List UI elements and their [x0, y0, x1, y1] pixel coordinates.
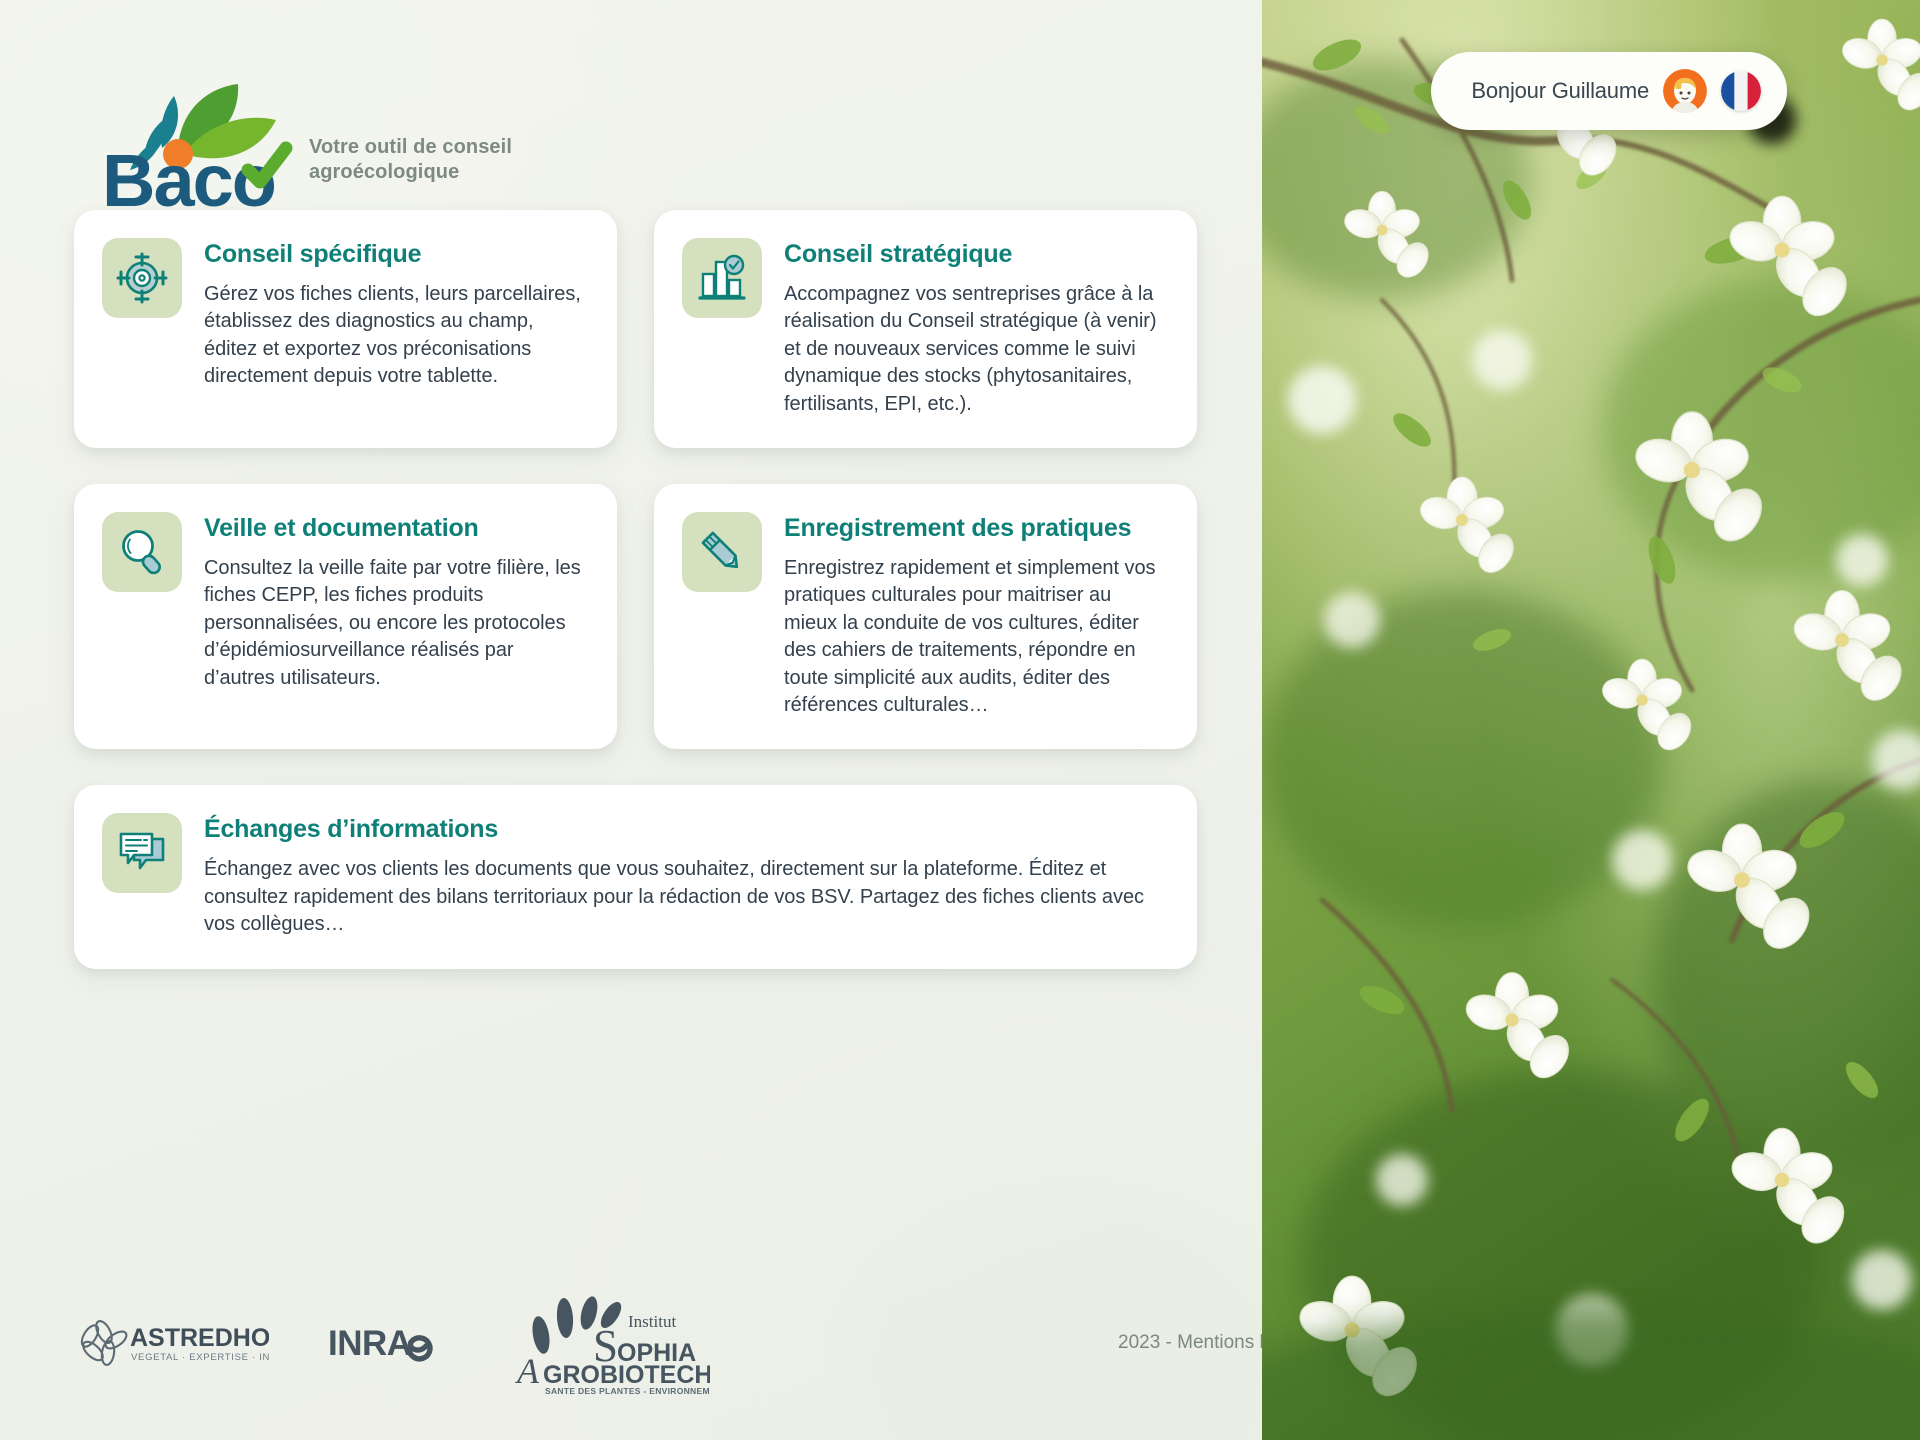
card-body: Veille et documentation Consultez la vei… — [204, 512, 587, 692]
astredhor-logo-icon: ASTREDHOR VEGETAL · EXPERTISE · INNOVATI… — [74, 1315, 269, 1371]
brand-tagline: Votre outil de conseil agroécologique — [309, 135, 519, 210]
card-conseil-specifique[interactable]: Conseil spécifique Gérez vos fiches clie… — [74, 210, 617, 448]
card-body: Conseil spécifique Gérez vos fiches clie… — [204, 238, 587, 391]
avatar-svg — [1663, 69, 1707, 113]
card-text: Gérez vos fiches clients, leurs parcella… — [204, 281, 587, 391]
landing-page: Baco Votre outil de conseil agroécologiq… — [0, 0, 1920, 1440]
sophia-tagline: SANTE DES PLANTES - ENVIRONNEMENT — [545, 1386, 710, 1396]
agrobiotech-a-letter: A — [515, 1351, 540, 1391]
french-flag-icon[interactable] — [1721, 71, 1761, 111]
blossom-photo — [1262, 0, 1920, 1440]
flag-svg — [1721, 71, 1761, 111]
card-icon-tile — [102, 512, 182, 592]
sophia-institut-label: Institut — [628, 1312, 676, 1331]
footer: ASTREDHOR VEGETAL · EXPERTISE · INNOVATI… — [0, 1270, 1262, 1440]
feature-cards-area: Conseil spécifique Gérez vos fiches clie… — [0, 210, 1262, 1270]
card-title: Enregistrement des pratiques — [784, 514, 1167, 543]
card-title: Veille et documentation — [204, 514, 587, 543]
card-text: Accompagnez vos sentreprises grâce à la … — [784, 281, 1167, 418]
card-text: Enregistrez rapidement et simplement vos… — [784, 555, 1167, 719]
partner-logo-inrae[interactable]: INRA — [327, 1319, 447, 1367]
baco-logo[interactable]: Baco — [100, 70, 295, 210]
partner-logo-astredhor[interactable]: ASTREDHOR VEGETAL · EXPERTISE · INNOVATI… — [74, 1315, 269, 1371]
card-text: Consultez la veille faite par votre fili… — [204, 555, 587, 692]
card-body: Enregistrement des pratiques Enregistrez… — [784, 512, 1167, 719]
greeting-text: Bonjour Guillaume — [1471, 78, 1649, 104]
agrobiotech-name: GROBIOTECH — [543, 1361, 710, 1389]
hero-photo-panel: Bonjour Guillaume — [1262, 0, 1920, 1440]
card-row-2: Veille et documentation Consultez la vei… — [74, 484, 1204, 749]
sophia-agrobiotech-logo-icon: Institut S OPHIA A GROBIOTECH SANTE DES … — [505, 1291, 710, 1396]
inrae-name: INRA — [328, 1324, 412, 1363]
chat-bubbles-icon — [116, 827, 168, 879]
brand-header: Baco Votre outil de conseil agroécologiq… — [0, 0, 1262, 210]
card-echanges-d-informations[interactable]: Échanges d’informations Échangez avec vo… — [74, 785, 1197, 969]
baco-logo-icon: Baco — [100, 70, 295, 210]
card-row-3: Échanges d’informations Échangez avec vo… — [74, 785, 1204, 969]
card-title: Conseil stratégique — [784, 240, 1167, 269]
bar-chart-check-icon — [696, 252, 748, 304]
partner-logos: ASTREDHOR VEGETAL · EXPERTISE · INNOVATI… — [74, 1291, 710, 1396]
user-avatar-icon[interactable] — [1663, 69, 1707, 113]
astredhor-name: ASTREDHOR — [130, 1324, 269, 1352]
inrae-logo-icon: INRA — [327, 1319, 447, 1367]
card-enregistrement-des-pratiques[interactable]: Enregistrement des pratiques Enregistrez… — [654, 484, 1197, 749]
card-body: Conseil stratégique Accompagnez vos sent… — [784, 238, 1167, 418]
pencil-icon — [696, 526, 748, 578]
card-body: Échanges d’informations Échangez avec vo… — [204, 813, 1167, 939]
target-icon — [116, 252, 168, 304]
card-conseil-strategique[interactable]: Conseil stratégique Accompagnez vos sent… — [654, 210, 1197, 448]
magnifier-icon — [116, 526, 168, 578]
card-row-1: Conseil spécifique Gérez vos fiches clie… — [74, 210, 1204, 448]
card-veille-et-documentation[interactable]: Veille et documentation Consultez la vei… — [74, 484, 617, 749]
card-icon-tile — [682, 238, 762, 318]
astredhor-tagline: VEGETAL · EXPERTISE · INNOVATION — [131, 1352, 269, 1363]
greeting-pill[interactable]: Bonjour Guillaume — [1431, 52, 1787, 130]
partner-logo-institut-sophia-agrobiotech[interactable]: Institut S OPHIA A GROBIOTECH SANTE DES … — [505, 1291, 710, 1396]
card-icon-tile — [102, 813, 182, 893]
card-title: Échanges d’informations — [204, 815, 1167, 844]
card-icon-tile — [682, 512, 762, 592]
card-text: Échangez avec vos clients les documents … — [204, 856, 1167, 939]
left-content-panel: Baco Votre outil de conseil agroécologiq… — [0, 0, 1262, 1440]
card-icon-tile — [102, 238, 182, 318]
card-title: Conseil spécifique — [204, 240, 587, 269]
